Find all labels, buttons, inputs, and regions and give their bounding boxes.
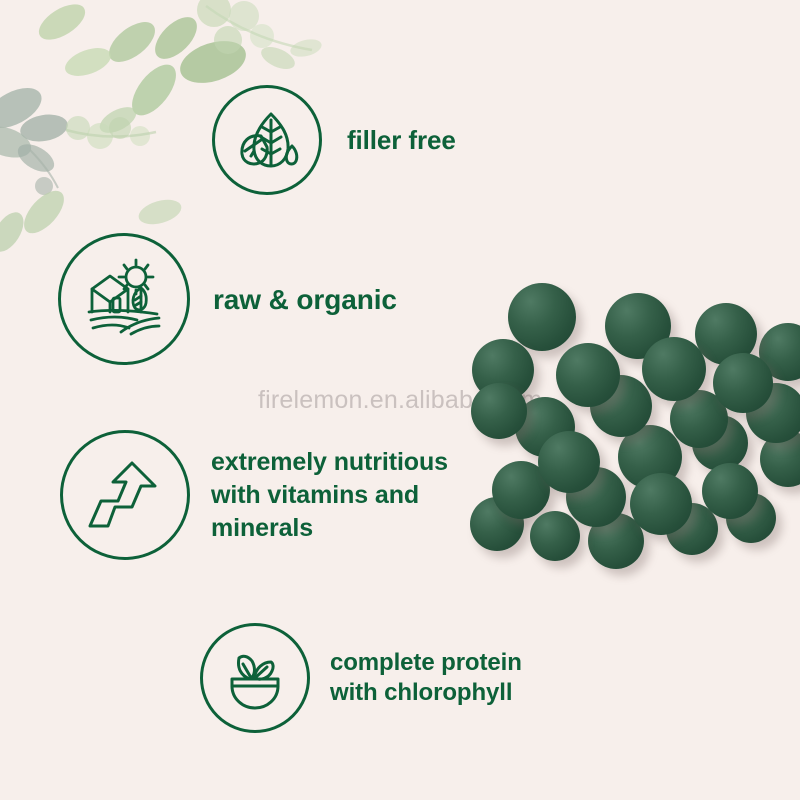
upward-zigzag-arrow-icon <box>85 455 165 535</box>
feature-label: extremely nutritious with vitamins and m… <box>211 446 448 545</box>
feature-item-raw-organic: raw & organic <box>58 233 397 365</box>
tablet <box>508 283 576 351</box>
infographic-canvas: filler free <box>0 0 800 800</box>
feature-label: raw & organic <box>213 283 397 316</box>
feature-icon-badge <box>212 85 322 195</box>
feature-label: filler free <box>347 125 456 156</box>
tablet <box>556 343 620 407</box>
feature-label: complete protein with chlorophyll <box>330 648 522 708</box>
feature-icon-badge <box>58 233 190 365</box>
spirulina-tablets-image <box>470 265 800 540</box>
bowl-with-leaves-icon <box>219 642 291 714</box>
farm-sun-icon <box>79 254 169 344</box>
tablet <box>713 353 773 413</box>
feature-item-filler-free: filler free <box>212 85 456 195</box>
tablet <box>642 337 706 401</box>
feature-item-complete-protein: complete protein with chlorophyll <box>200 623 522 733</box>
feature-item-nutritious: extremely nutritious with vitamins and m… <box>60 430 448 560</box>
tablet <box>538 431 600 493</box>
feature-icon-badge <box>60 430 190 560</box>
tablet <box>630 473 692 535</box>
leaves-icon <box>231 104 303 176</box>
tablet <box>530 511 580 561</box>
tablet <box>702 463 758 519</box>
feature-icon-badge <box>200 623 310 733</box>
tablet <box>471 383 527 439</box>
